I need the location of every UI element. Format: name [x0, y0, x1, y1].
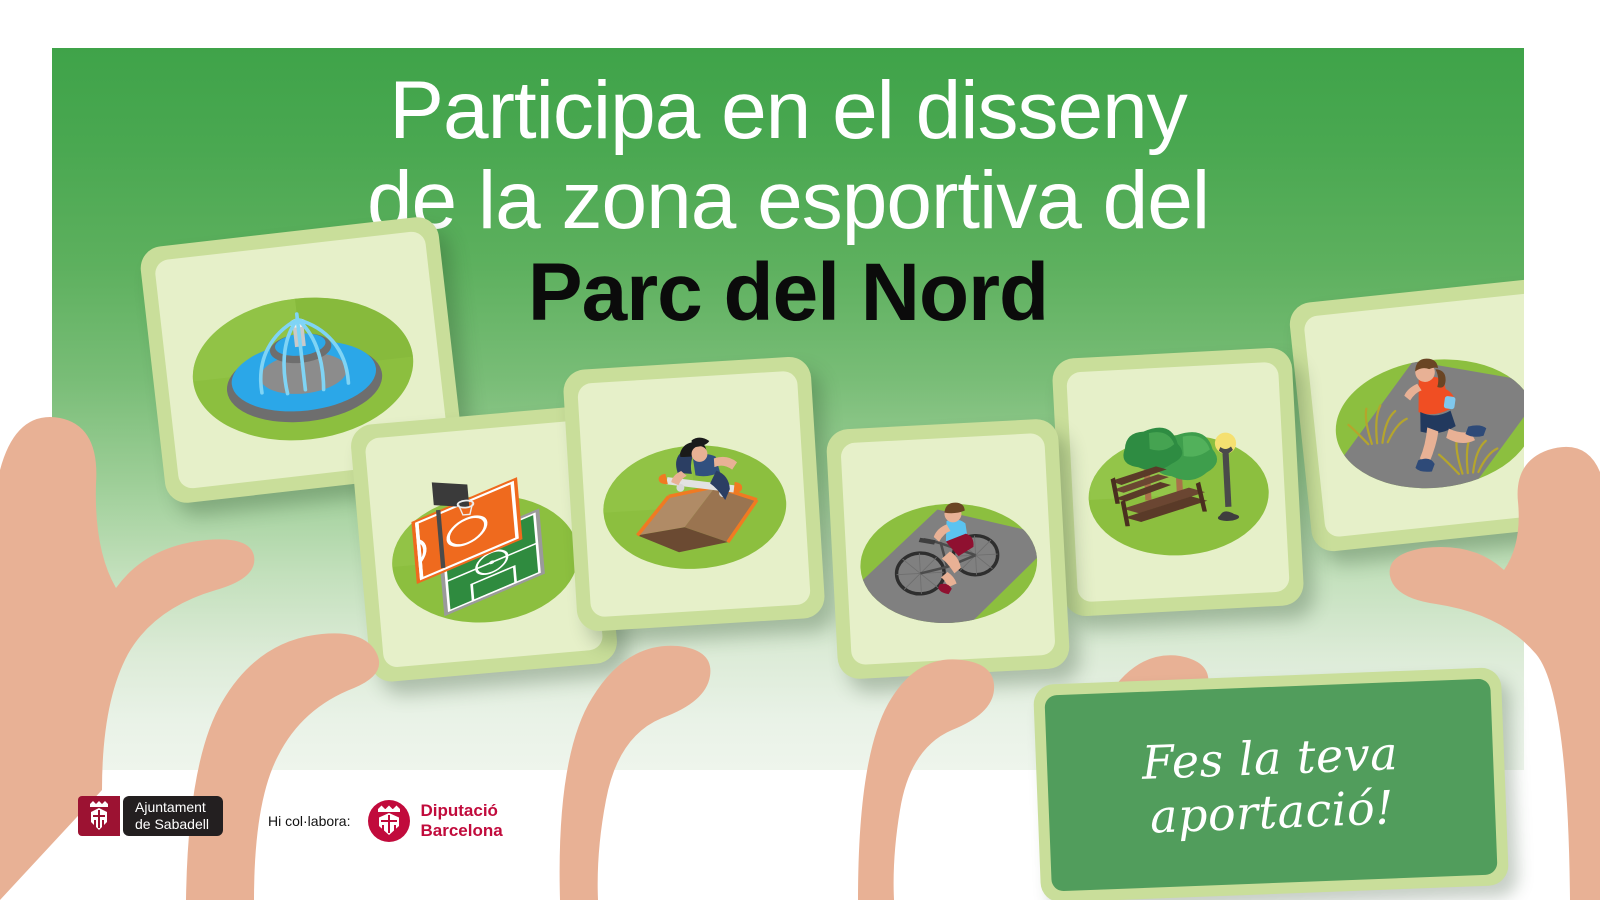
logo-ajuntament-sabadell[interactable]: Ajuntament de Sabadell	[78, 796, 223, 836]
poster-panel: Participa en el disseny de la zona espor…	[52, 48, 1524, 770]
card-bike-face	[840, 433, 1055, 665]
card-skate[interactable]	[562, 356, 826, 633]
footer-logos: Ajuntament de Sabadell Hi col·labora:	[0, 770, 1600, 900]
collaborator-block: Hi col·labora: Diputació Barcelona	[268, 800, 503, 842]
poster-canvas: Participa en el disseny de la zona espor…	[0, 0, 1600, 900]
headline-line-2: de la zona esportiva del	[52, 160, 1524, 242]
diputacio-line-2: Barcelona	[420, 821, 502, 841]
card-bench-face	[1066, 362, 1290, 603]
collaborator-label: Hi col·labora:	[268, 813, 350, 829]
sabadell-crest-icon	[78, 796, 120, 836]
runner-icon	[1303, 292, 1524, 538]
skateboarder-icon	[577, 371, 811, 618]
sabadell-line-2: de Sabadell	[135, 816, 209, 834]
card-skate-face	[577, 371, 811, 618]
card-runner-face	[1303, 292, 1524, 538]
card-runner[interactable]	[1288, 277, 1524, 554]
sabadell-line-1: Ajuntament	[135, 799, 209, 817]
headline-line-1: Participa en el disseny	[52, 70, 1524, 152]
park-bench-icon	[1066, 362, 1290, 603]
diputacio-line-1: Diputació	[420, 801, 502, 821]
cyclist-icon	[840, 433, 1055, 665]
diputacio-crest-icon	[368, 800, 410, 842]
diputacio-wordmark: Diputació Barcelona	[420, 801, 502, 841]
sabadell-wordmark: Ajuntament de Sabadell	[123, 796, 223, 836]
card-bike[interactable]	[826, 418, 1071, 680]
card-bench[interactable]	[1051, 347, 1304, 617]
